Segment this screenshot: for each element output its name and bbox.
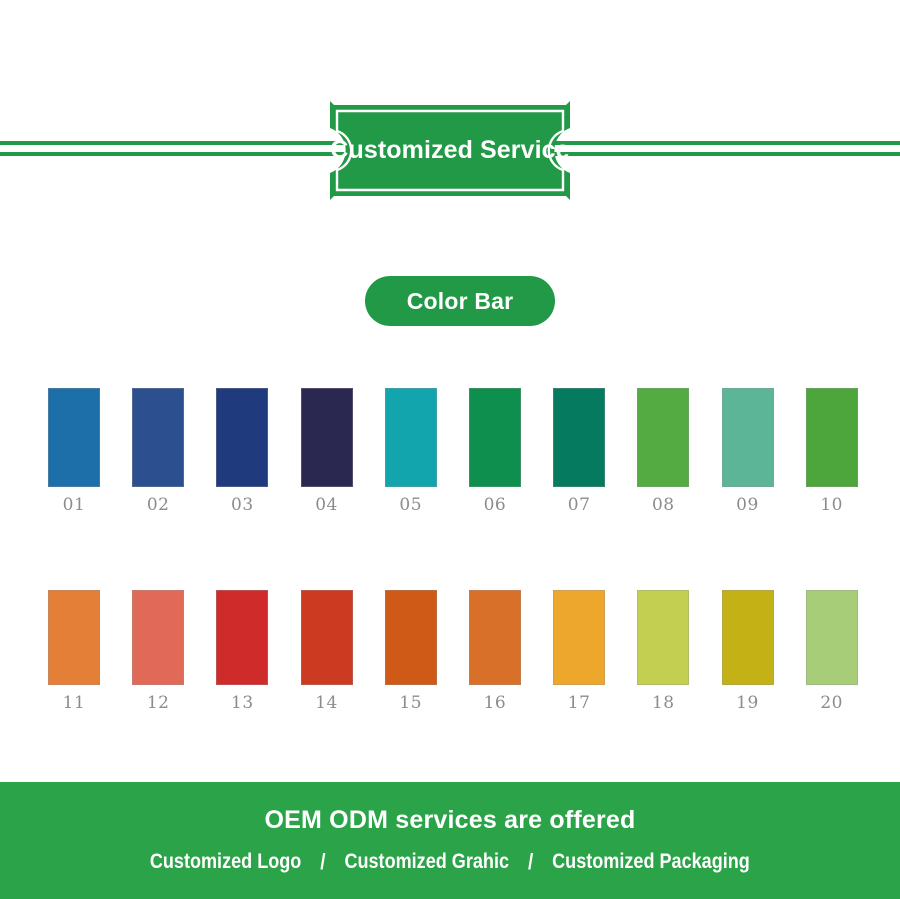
swatch-cell[interactable]: 17 [553,590,605,713]
swatch-chip[interactable] [806,388,858,487]
footer-separator: / [528,849,533,875]
swatch-cell[interactable]: 11 [48,590,100,713]
swatch-cell[interactable]: 01 [48,388,100,515]
page-title: Customized Service [312,100,588,201]
swatch-cell[interactable]: 09 [722,388,774,515]
swatch-chip[interactable] [385,590,437,685]
swatch-chip[interactable] [553,590,605,685]
swatch-label: 15 [399,693,422,713]
swatch-cell[interactable]: 12 [132,590,184,713]
swatch-chip[interactable] [216,590,268,685]
footer-separator: / [320,849,325,875]
footer-item-packaging: Customized Packaging [552,850,750,874]
swatch-cell[interactable]: 18 [637,590,689,713]
swatch-label: 19 [736,693,759,713]
footer-item-logo: Customized Logo [150,850,301,874]
footer-item-graphic: Customized Grahic [345,850,510,874]
swatch-chip[interactable] [132,590,184,685]
header-banner: Customized Service [312,100,588,201]
swatch-chip[interactable] [301,590,353,685]
swatch-cell[interactable]: 06 [469,388,521,515]
swatch-chip[interactable] [637,388,689,487]
swatch-row-warm: 11 12 13 14 15 16 17 18 19 20 [48,590,858,713]
footer-headline: OEM ODM services are offered [264,806,635,835]
swatch-label: 04 [315,495,338,515]
swatch-cell[interactable]: 02 [132,388,184,515]
swatch-cell[interactable]: 16 [469,590,521,713]
swatch-chip[interactable] [637,590,689,685]
swatch-chip[interactable] [132,388,184,487]
swatch-chip[interactable] [469,590,521,685]
swatch-label: 03 [231,495,254,515]
swatch-row-cool: 01 02 03 04 05 06 07 08 09 10 [48,388,858,515]
swatch-label: 16 [484,693,507,713]
swatch-label: 06 [484,495,507,515]
header-section: Customized Service [0,0,900,230]
swatch-cell[interactable]: 08 [637,388,689,515]
swatch-chip[interactable] [806,590,858,685]
swatch-chip[interactable] [301,388,353,487]
swatch-cell[interactable]: 07 [553,388,605,515]
swatch-label: 07 [568,495,591,515]
color-bar-heading: Color Bar [365,276,555,326]
swatch-label: 11 [63,693,86,713]
swatch-cell[interactable]: 19 [722,590,774,713]
swatch-cell[interactable]: 04 [301,388,353,515]
swatch-label: 13 [231,693,254,713]
swatch-label: 14 [315,693,338,713]
swatch-label: 12 [147,693,170,713]
swatch-chip[interactable] [553,388,605,487]
swatch-chip[interactable] [48,590,100,685]
swatch-cell[interactable]: 14 [301,590,353,713]
swatch-label: 09 [736,495,759,515]
swatch-chip[interactable] [722,388,774,487]
swatch-chip[interactable] [48,388,100,487]
swatch-label: 05 [399,495,422,515]
swatch-cell[interactable]: 20 [806,590,858,713]
swatch-label: 08 [652,495,675,515]
footer-bar: OEM ODM services are offered Customized … [0,782,900,899]
swatch-cell[interactable]: 05 [385,388,437,515]
swatch-cell[interactable]: 03 [216,388,268,515]
swatch-cell[interactable]: 15 [385,590,437,713]
swatch-cell[interactable]: 10 [806,388,858,515]
swatch-label: 02 [147,495,170,515]
swatch-label: 01 [63,495,86,515]
swatch-label: 17 [568,693,591,713]
swatch-label: 10 [820,495,843,515]
swatch-chip[interactable] [216,388,268,487]
swatch-chip[interactable] [722,590,774,685]
swatch-label: 18 [652,693,675,713]
footer-service-list: Customized Logo / Customized Grahic / Cu… [150,849,750,875]
swatch-chip[interactable] [469,388,521,487]
swatch-cell[interactable]: 13 [216,590,268,713]
swatch-label: 20 [820,693,843,713]
swatch-chip[interactable] [385,388,437,487]
